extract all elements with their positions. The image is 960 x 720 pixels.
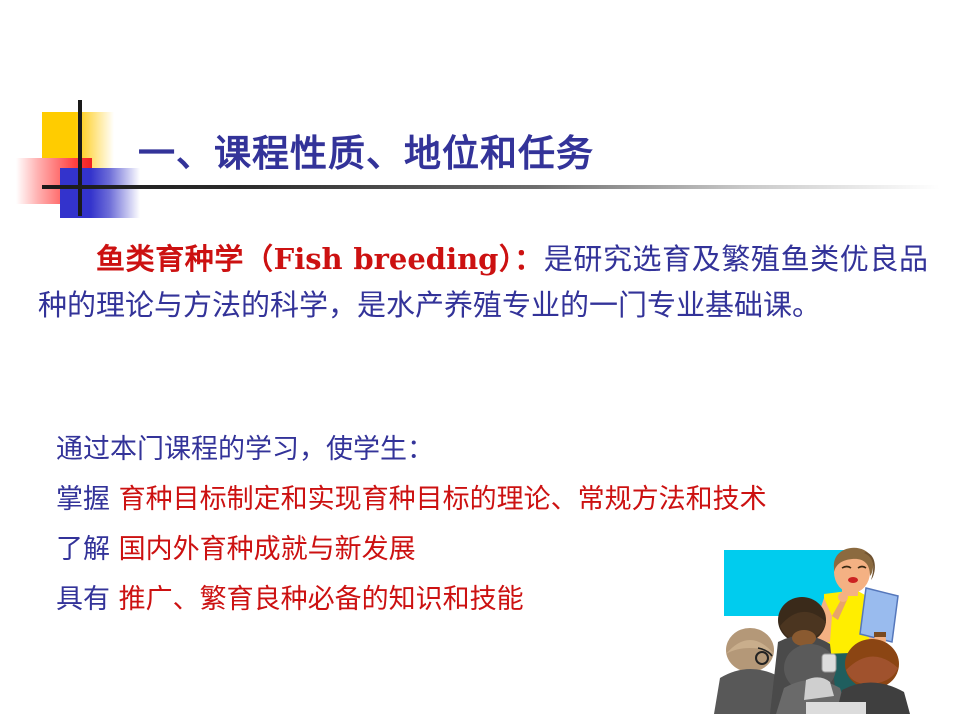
objective-lead-3: 具有 <box>56 584 119 615</box>
objective-body-1: 育种目标制定和实现育种目标的理论、常规方法和技术 <box>119 484 767 515</box>
classroom-presentation-clipart <box>706 542 950 714</box>
decor-horizontal-rule <box>42 185 940 189</box>
definition-term: 鱼类育种学（Fish breeding）： <box>96 242 544 276</box>
objective-body-3: 推广、繁育良种必备的知识和技能 <box>119 584 524 615</box>
slide-canvas: 一、课程性质、地位和任务 鱼类育种学（Fish breeding）：是研究选育及… <box>0 0 960 720</box>
decor-blue-block-lower <box>60 192 140 218</box>
objective-body-2: 国内外育种成就与新发展 <box>119 534 416 565</box>
decor-vertical-rule <box>78 100 82 216</box>
objective-lead-2: 了解 <box>56 534 119 565</box>
slide-title: 一、课程性质、地位和任务 <box>138 123 594 177</box>
objective-item-1: 掌握 育种目标制定和实现育种目标的理论、常规方法和技术 <box>56 475 936 525</box>
definition-paragraph: 鱼类育种学（Fish breeding）：是研究选育及繁殖鱼类优良品种的理论与方… <box>38 236 928 328</box>
objectives-intro: 通过本门课程的学习，使学生： <box>56 425 936 475</box>
objective-lead-1: 掌握 <box>56 484 119 515</box>
